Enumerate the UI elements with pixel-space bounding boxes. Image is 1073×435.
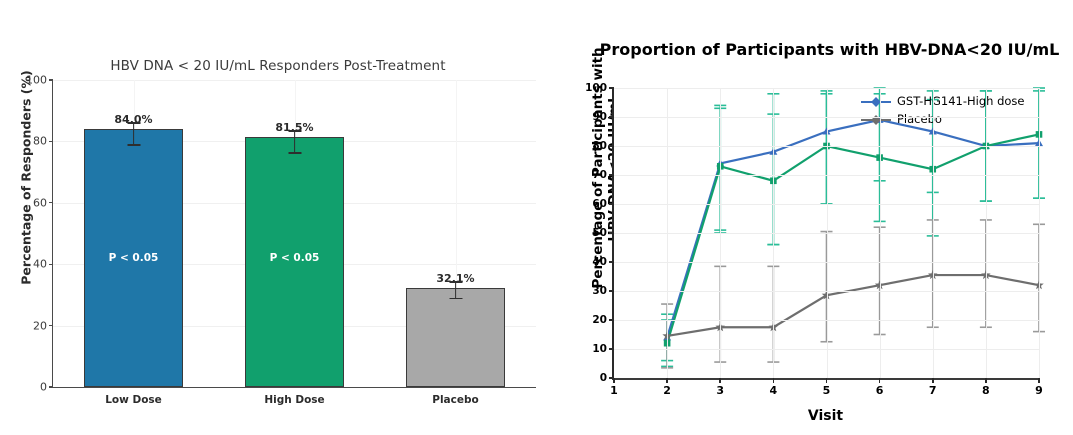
line-chart-x-tick-label: 2: [663, 384, 671, 397]
line-chart-y-axis-label-line1: Percentage of Participants with: [591, 18, 607, 318]
legend-swatch-icon: [861, 96, 891, 108]
bar-error-cap: [449, 298, 462, 300]
bar-chart-y-tick-mark: [49, 264, 53, 265]
line-chart-y-tick-mark: [609, 145, 614, 147]
line-chart-y-tick-mark: [609, 261, 614, 263]
bar-error-cap: [127, 122, 140, 124]
bar-category-label: Placebo: [375, 394, 536, 406]
line-chart-gridline-vertical: [773, 88, 774, 378]
bar-chart-y-tick-mark: [49, 202, 53, 203]
bar-error-cap: [449, 281, 462, 283]
line-chart-y-tick-mark: [609, 203, 614, 205]
line-chart-gridline-vertical: [720, 88, 721, 378]
legend-swatch-icon: [861, 114, 891, 126]
line-chart-x-tick-label: 8: [982, 384, 990, 397]
line-chart-gridline-vertical: [1039, 88, 1040, 378]
line-chart-x-tick-label: 4: [770, 384, 778, 397]
line-chart-panel: Proportion of Participants with HBV-DNA<…: [556, 0, 1073, 435]
legend-label: GST-HG141-High dose: [897, 93, 1024, 111]
line-chart-x-tick-label: 9: [1035, 384, 1043, 397]
bar-chart-title: HBV DNA < 20 IU/mL Responders Post-Treat…: [0, 58, 556, 74]
bar-error-cap: [288, 130, 301, 132]
two-panel-figure: HBV DNA < 20 IU/mL Responders Post-Treat…: [0, 0, 1073, 435]
line-chart-x-tick-mark: [879, 378, 881, 383]
line-chart-y-tick-mark: [609, 174, 614, 176]
line-chart-y-tick-mark: [609, 290, 614, 292]
line-chart-x-tick-mark: [666, 378, 668, 383]
bar-chart-y-tick-mark: [49, 325, 53, 326]
bar-error-cap: [127, 144, 140, 146]
line-chart-x-tick-mark: [719, 378, 721, 383]
bar-category-label: High Dose: [214, 394, 375, 406]
line-chart-x-tick-label: 3: [716, 384, 724, 397]
bar-placebo: [406, 288, 506, 387]
bar-chart-y-tick-mark: [49, 79, 53, 80]
bar-error-bar: [294, 130, 296, 152]
line-chart-gridline-vertical: [880, 88, 881, 378]
line-chart-x-tick-mark: [1038, 378, 1040, 383]
error-bars-placebo: [661, 220, 1045, 368]
line-chart-x-axis-label: Visit: [612, 408, 1039, 424]
line-chart-x-tick-mark: [985, 378, 987, 383]
line-chart-legend: GST-HG141-High dosePlacebo: [861, 93, 1024, 129]
bar-chart-plot-area: 02040608010084.0%P < 0.05Low Dose81.5%P …: [52, 80, 536, 388]
bar-chart-y-axis-label: Percentage of Responders (%): [19, 48, 34, 308]
bar-chart-panel: HBV DNA < 20 IU/mL Responders Post-Treat…: [0, 0, 556, 435]
line-chart-y-tick-mark: [609, 116, 614, 118]
line-chart-x-tick-mark: [826, 378, 828, 383]
line-chart-gridline-vertical: [667, 88, 668, 378]
bar-p-value-annotation: P < 0.05: [84, 252, 184, 264]
bar-p-value-annotation: P < 0.05: [245, 252, 345, 264]
error-bars-gst-hg141-low-dose: [661, 91, 1045, 367]
bar-error-bar: [455, 281, 457, 297]
line-chart-plot-area: GST-HG141-High dosePlacebo 0102030405060…: [612, 88, 1039, 380]
line-chart-x-tick-mark: [613, 378, 615, 383]
bar-chart-y-tick-mark: [49, 386, 53, 387]
line-chart-x-tick-mark: [932, 378, 934, 383]
line-chart-y-tick-mark: [609, 232, 614, 234]
line-chart-x-tick-label: 6: [876, 384, 884, 397]
bar-error-cap: [288, 152, 301, 154]
line-chart-gridline-vertical: [827, 88, 828, 378]
line-chart-title: Proportion of Participants with HBV-DNA<…: [586, 40, 1073, 59]
line-chart-gridline-vertical: [986, 88, 987, 378]
legend-item: Placebo: [861, 111, 1024, 129]
line-chart-gridline-vertical: [933, 88, 934, 378]
bar-error-bar: [133, 122, 135, 144]
line-chart-x-tick-label: 7: [929, 384, 937, 397]
line-chart-y-tick-mark: [609, 348, 614, 350]
bar-category-label: Low Dose: [53, 394, 214, 406]
legend-label: Placebo: [897, 111, 942, 129]
line-chart-y-tick-mark: [609, 319, 614, 321]
line-chart-x-tick-label: 5: [823, 384, 831, 397]
legend-item: GST-HG141-High dose: [861, 93, 1024, 111]
line-chart-x-tick-mark: [773, 378, 775, 383]
line-chart-x-tick-label: 1: [610, 384, 618, 397]
bar-chart-y-tick-mark: [49, 141, 53, 142]
line-chart-y-tick-mark: [609, 87, 614, 89]
